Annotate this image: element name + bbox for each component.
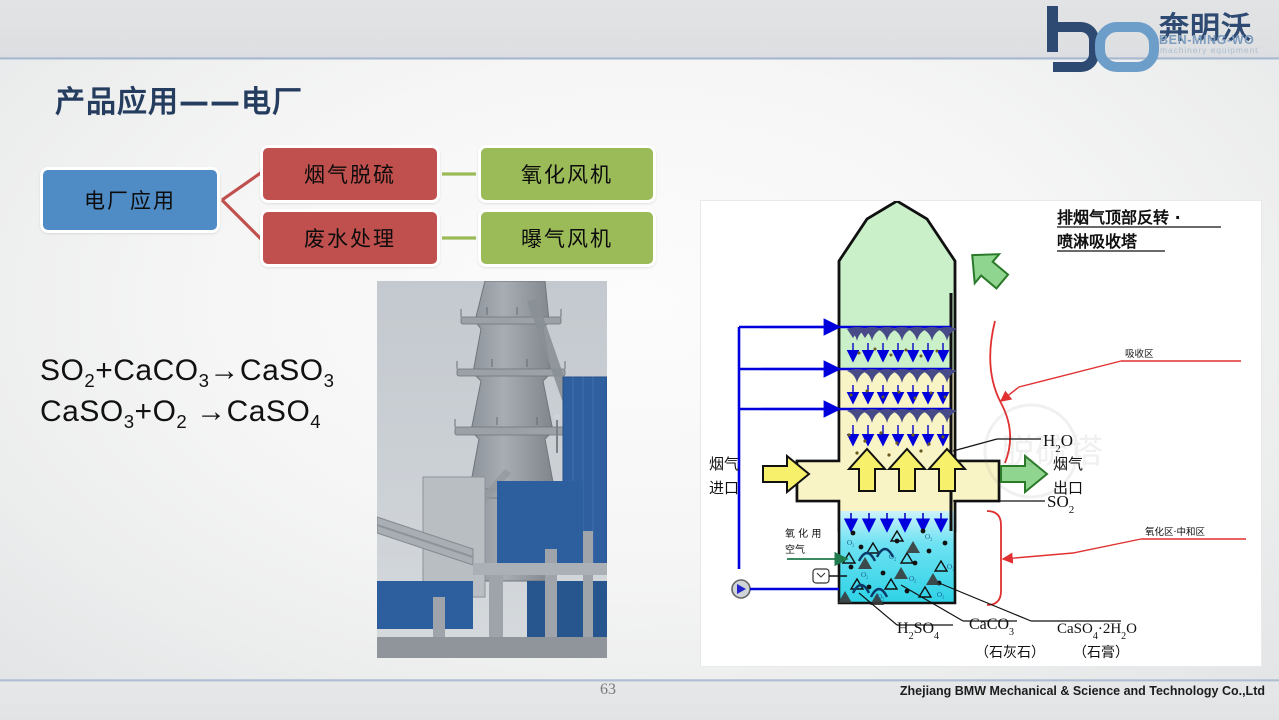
diagram-title-line1: 排烟气顶部反转 ·	[1057, 208, 1181, 227]
svg-text:O₂: O₂	[947, 563, 955, 571]
equation-line-1: SO2+CaCO3→CaSO3	[40, 352, 334, 393]
svg-text:O₂: O₂	[909, 575, 917, 583]
logo-b-bowl	[1053, 22, 1099, 72]
flow-node-oxidation-blower[interactable]: 氧化风机	[478, 145, 656, 203]
svg-text:O₂: O₂	[937, 591, 945, 599]
flow-node-aeration-blower[interactable]: 曝气风机	[478, 209, 656, 267]
label-gas-outlet-line1: 烟气	[1053, 455, 1083, 473]
label-caso4-cn: （石膏）	[1073, 644, 1129, 661]
chemical-equations: SO2+CaCO3→CaSO3 CaSO3+O2 →CaSO4	[40, 352, 334, 434]
plant-photo	[377, 281, 607, 658]
page-number: 63	[600, 681, 616, 699]
logo-o-ring	[1095, 22, 1159, 72]
flow-node-wastewater[interactable]: 废水处理	[260, 209, 440, 267]
svg-text:O₂: O₂	[847, 539, 855, 547]
absorber-diagram-svg: O₂O₂O₂ O₂O₂O₂ O₂O₂	[701, 201, 1261, 666]
label-oxidation-air-line2: 空气	[785, 543, 805, 556]
svg-text:O₂: O₂	[861, 571, 869, 579]
absorber-tower-diagram: O₂O₂O₂ O₂O₂O₂ O₂O₂	[700, 200, 1262, 667]
svg-text:O₂: O₂	[877, 593, 885, 601]
logo-tagline: machinery equipment	[1160, 45, 1258, 55]
bo-monogram-icon	[1047, 6, 1159, 54]
flow-node-root[interactable]: 电厂应用	[40, 167, 220, 233]
slide-canvas: 奔明沃 BEN-MING-WO machinery equipment 产品应用…	[0, 0, 1279, 720]
label-absorption-zone: 吸收区	[1125, 348, 1154, 360]
svg-text:O₂: O₂	[925, 533, 933, 541]
company-logo: 奔明沃 BEN-MING-WO machinery equipment	[1041, 2, 1269, 58]
label-oxidation-air-line1: 氧 化 用	[785, 527, 821, 540]
flow-node-desulfurization[interactable]: 烟气脱硫	[260, 145, 440, 203]
label-oxidation-neutral-zone: 氧化区·中和区	[1145, 526, 1206, 538]
diagram-title-line2: 喷淋吸收塔	[1057, 232, 1138, 251]
label-gas-inlet-line1: 烟气	[709, 455, 739, 473]
flowchart: 电厂应用 烟气脱硫 废水处理 氧化风机 曝气风机	[0, 0, 680, 280]
plant-photo-illustration	[377, 281, 607, 658]
label-caco3-cn: （石灰石）	[975, 645, 1045, 661]
equation-line-2: CaSO3+O2 →CaSO4	[40, 393, 334, 434]
label-gas-inlet-line2: 进口	[709, 479, 739, 497]
footer-company-name: Zhejiang BMW Mechanical & Science and Te…	[900, 684, 1265, 698]
